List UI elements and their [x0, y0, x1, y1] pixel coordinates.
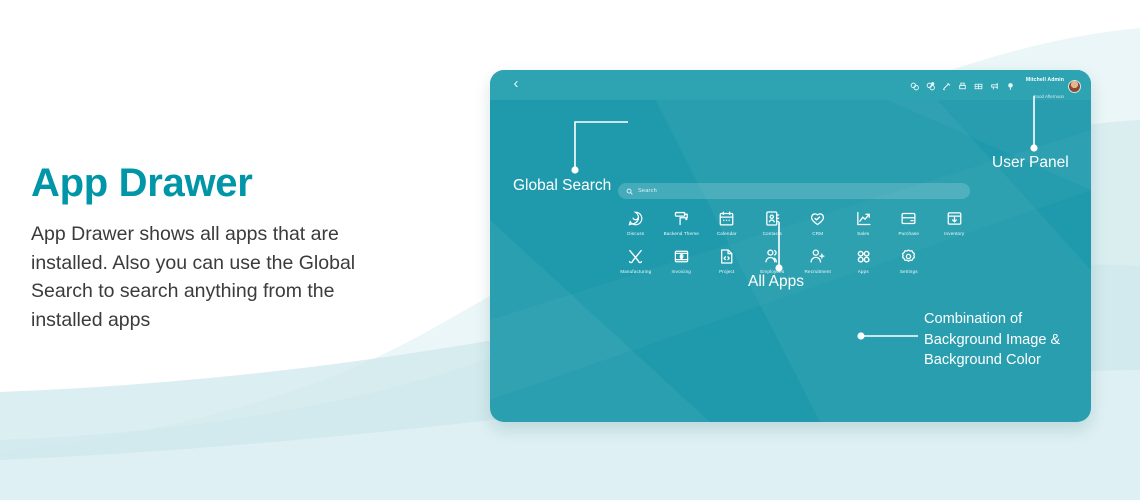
app-label: Calendar — [717, 231, 737, 236]
callout-label: Global Search — [513, 176, 611, 195]
invoicing-dollar-icon — [673, 248, 690, 265]
project-code-icon — [718, 248, 735, 265]
app-row: Discuss Backend Theme — [613, 210, 977, 236]
megaphone-icon[interactable] — [990, 82, 999, 91]
user-greeting: Good Afternoon — [1033, 94, 1064, 99]
app-item-backend-theme[interactable]: Backend Theme — [659, 210, 705, 236]
messages-icon[interactable] — [910, 82, 919, 91]
user-profile[interactable]: Mitchell Admin Good Afternoon — [1026, 70, 1081, 103]
app-label: CRM — [812, 231, 823, 236]
app-label: Manufacturing — [620, 269, 651, 274]
app-item-apps[interactable]: Apps — [841, 248, 887, 274]
search-placeholder: Search — [638, 188, 657, 194]
app-item-crm[interactable]: CRM — [795, 210, 841, 236]
app-item-invoicing[interactable]: Invoicing — [659, 248, 705, 274]
app-label: Inventory — [944, 231, 964, 236]
callout-background: Combination of Background Image & Backgr… — [924, 309, 1060, 371]
inventory-box-icon — [946, 210, 963, 227]
activities-icon[interactable] — [926, 82, 935, 91]
avatar[interactable] — [1068, 80, 1081, 93]
app-grid: Discuss Backend Theme — [613, 210, 977, 274]
discuss-icon — [627, 210, 644, 227]
user-name: Mitchell Admin — [1026, 77, 1064, 83]
callout-global-search: Global Search — [513, 176, 611, 195]
app-item-discuss[interactable]: Discuss — [613, 210, 659, 236]
app-item-employees[interactable]: Employees — [750, 248, 796, 274]
app-label: Invoicing — [672, 269, 691, 274]
sales-chart-icon — [855, 210, 872, 227]
crm-heart-icon — [809, 210, 826, 227]
app-item-inventory[interactable]: Inventory — [932, 210, 978, 236]
slide-canvas: App Drawer App Drawer shows all apps tha… — [0, 0, 1140, 500]
callout-user-panel: User Panel — [992, 153, 1069, 172]
app-item-settings[interactable]: Settings — [886, 248, 932, 274]
back-chevron-icon[interactable]: ‹ — [508, 75, 524, 93]
app-item-contacts[interactable]: Contacts — [750, 210, 796, 236]
callout-label: User Panel — [992, 153, 1069, 172]
app-label: Project — [719, 269, 734, 274]
app-label: Purchase — [898, 231, 919, 236]
settings-gear-icon — [900, 248, 917, 265]
page-title: App Drawer — [31, 160, 431, 206]
print-icon[interactable] — [958, 82, 967, 91]
left-copy-block: App Drawer App Drawer shows all apps tha… — [31, 160, 431, 334]
page-description: App Drawer shows all apps that are insta… — [31, 220, 401, 334]
paint-roller-icon — [673, 210, 690, 227]
recruitment-user-plus-icon — [809, 248, 826, 265]
app-item-project[interactable]: Project — [704, 248, 750, 274]
grid-icon[interactable] — [974, 82, 983, 91]
app-item-purchase[interactable]: Purchase — [886, 210, 932, 236]
app-item-manufacturing[interactable]: Manufacturing — [613, 248, 659, 274]
apps-dots-icon — [855, 248, 872, 265]
purchase-card-icon — [900, 210, 917, 227]
app-label: Contacts — [763, 231, 782, 236]
callout-all-apps: All Apps — [748, 272, 804, 291]
app-label: Settings — [900, 269, 918, 274]
bug-icon[interactable] — [942, 82, 951, 91]
app-label: Apps — [858, 269, 869, 274]
user-text: Mitchell Admin Good Afternoon — [1026, 70, 1064, 103]
app-row: Manufacturing Invoicing — [613, 248, 977, 274]
bulb-icon[interactable] — [1006, 82, 1015, 91]
manufacturing-tools-icon — [627, 248, 644, 265]
callout-label: All Apps — [748, 272, 804, 291]
search-input[interactable]: Search — [618, 183, 970, 199]
user-panel[interactable]: Mitchell Admin Good Afternoon — [910, 75, 1081, 97]
app-item-sales[interactable]: Sales — [841, 210, 887, 236]
search-icon — [626, 188, 633, 195]
app-item-recruitment[interactable]: Recruitment — [795, 248, 841, 274]
contacts-icon — [764, 210, 781, 227]
app-label: Sales — [857, 231, 869, 236]
calendar-icon — [718, 210, 735, 227]
app-label: Backend Theme — [664, 231, 699, 236]
callout-label: Combination of Background Image & Backgr… — [924, 309, 1060, 371]
app-label: Recruitment — [805, 269, 831, 274]
app-label: Discuss — [627, 231, 644, 236]
app-item-calendar[interactable]: Calendar — [704, 210, 750, 236]
employees-icon — [764, 248, 781, 265]
